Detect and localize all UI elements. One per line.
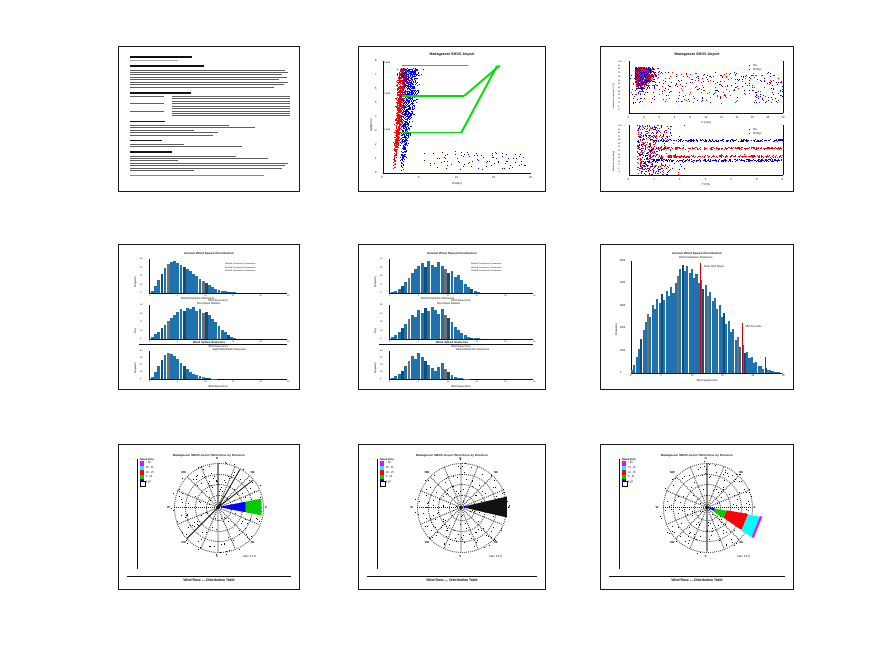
scatter-point — [667, 166, 668, 167]
scatter-point — [640, 126, 641, 127]
scatter-point — [742, 79, 743, 80]
scatter-point-std — [445, 158, 446, 159]
scatter-point — [685, 95, 686, 96]
scatter-point — [719, 149, 720, 150]
scatter-point-std — [415, 70, 416, 71]
scatter-point — [654, 175, 655, 176]
scatter-point — [636, 74, 637, 75]
scatter-point — [643, 68, 644, 69]
scatter-point — [668, 156, 669, 157]
doc-table-row — [130, 101, 290, 102]
scatter-point-std — [412, 69, 413, 70]
scatter-point — [682, 148, 683, 149]
scatter-point — [681, 88, 682, 89]
y-axis-label: Wind Direction (deg) — [613, 151, 615, 171]
scatter-point — [638, 142, 639, 143]
doc-text-line — [130, 156, 236, 157]
scatter-point-std — [418, 73, 419, 74]
scatter-point — [746, 161, 747, 162]
scatter-point — [688, 141, 689, 142]
scatter-point — [636, 83, 637, 84]
scatter-point — [647, 125, 648, 126]
scatter-point-std — [406, 87, 407, 88]
scatter-point — [643, 152, 644, 153]
scatter-point — [632, 89, 633, 90]
scatter-point — [677, 160, 678, 161]
scatter-point — [731, 139, 732, 140]
scatter-point — [715, 92, 716, 93]
x-axis-label: V (m/s) — [629, 120, 783, 124]
scatter-point — [641, 82, 642, 83]
scatter-point-std — [409, 128, 410, 129]
scatter-point — [755, 100, 756, 101]
scatter-point — [659, 89, 660, 90]
scatter-point — [634, 96, 635, 97]
legend-label: Mean — [401, 68, 407, 71]
scatter-point — [778, 78, 779, 79]
scatter-point — [636, 77, 637, 78]
scatter-point — [782, 96, 783, 97]
scatter-point — [762, 99, 763, 100]
scatter-point-std — [414, 76, 415, 77]
doc-table-row — [130, 115, 290, 116]
scatter-point — [770, 157, 771, 158]
scatter-point — [686, 74, 687, 75]
scatter-point — [713, 94, 714, 95]
scatter-point — [726, 73, 727, 74]
scatter-point-std — [415, 90, 416, 91]
scatter-point-std — [417, 85, 418, 86]
doc-text-line — [130, 135, 213, 136]
scatter-point — [708, 159, 709, 160]
scatter-point-mean — [397, 95, 398, 96]
scatter-point-mean — [400, 106, 401, 107]
scatter-point-std — [410, 126, 411, 127]
scatter-point-std — [434, 163, 435, 164]
scatter-point — [745, 83, 746, 84]
scatter-point — [725, 95, 726, 96]
scatter-point — [752, 90, 753, 91]
scatter-point — [704, 90, 705, 91]
scatter-point — [716, 156, 717, 157]
scatter-point-std — [406, 135, 407, 136]
scatter-point — [760, 91, 761, 92]
scatter-point — [658, 125, 659, 126]
scatter-point — [702, 85, 703, 86]
scatter-point — [654, 96, 655, 97]
scatter-point — [698, 89, 699, 90]
scatter-point — [737, 97, 738, 98]
scatter-point-std — [410, 135, 411, 136]
scatter-point — [756, 102, 757, 103]
scatter-point — [669, 161, 670, 162]
scatter-point — [757, 79, 758, 80]
scatter-point — [671, 160, 672, 161]
scatter-point-mean — [397, 116, 398, 117]
doc-row-value — [172, 108, 290, 109]
legend-marker — [749, 65, 750, 66]
scatter-point-mean — [397, 120, 398, 121]
legend-marker — [749, 69, 750, 70]
scatter-point — [722, 148, 723, 149]
scatter-point — [670, 76, 671, 77]
scatter-point — [686, 100, 687, 101]
scatter-point-std — [442, 152, 443, 153]
scatter-point — [646, 138, 647, 139]
scatter-point — [718, 91, 719, 92]
scatter-point — [735, 83, 736, 84]
scatter-point — [714, 160, 715, 161]
scatter-point-std — [412, 121, 413, 122]
scatter-point — [681, 74, 682, 75]
scatter-point — [715, 140, 716, 141]
scatter-point — [710, 159, 711, 160]
scatter-point — [718, 140, 719, 141]
scatter-point — [692, 161, 693, 162]
scatter-point-std — [478, 168, 479, 169]
scatter-point — [640, 88, 641, 89]
scatter-point — [629, 81, 630, 82]
scatter-point — [771, 88, 772, 89]
scatter-point — [768, 100, 769, 101]
scatter-point — [728, 79, 729, 80]
scatter-point-std — [411, 81, 412, 82]
scatter-point — [782, 139, 783, 140]
scatter-point — [663, 134, 664, 135]
scatter-point — [731, 78, 732, 79]
scatter-point-std — [404, 87, 405, 88]
scatter-point-std — [464, 164, 465, 165]
scatter-point-std — [405, 147, 406, 148]
scatter-point-mean — [400, 128, 401, 129]
scatter-point-std — [403, 155, 404, 156]
scatter-point — [735, 75, 736, 76]
scatter-point — [658, 171, 659, 172]
scatter-point — [680, 160, 681, 161]
scatter-point — [726, 77, 727, 78]
scatter-point — [665, 101, 666, 102]
scatter-point — [723, 92, 724, 93]
scatter-point-std — [406, 116, 407, 117]
scatter-point-std — [402, 116, 403, 117]
scatter-point-std — [404, 159, 405, 160]
scatter-point — [651, 157, 652, 158]
scatter-point — [760, 96, 761, 97]
scatter-point — [760, 94, 761, 95]
scatter-point — [665, 78, 666, 79]
scatter-point-std — [409, 102, 410, 103]
scatter-point — [698, 80, 699, 81]
x-tick-label: 14 — [735, 116, 738, 119]
y-tick-label: 20 — [618, 161, 620, 163]
scatter-point-mean — [397, 121, 398, 122]
scatter-point — [697, 76, 698, 77]
scatter-point-mean — [394, 143, 395, 144]
scatter-point — [689, 77, 690, 78]
scatter-point-std — [402, 159, 403, 160]
scatter-point — [638, 163, 639, 164]
scatter-point — [648, 171, 649, 172]
scatter-point — [670, 86, 671, 87]
scatter-point — [724, 81, 725, 82]
y-axis — [383, 61, 384, 173]
scatter-point — [649, 85, 650, 86]
scatter-point — [689, 160, 690, 161]
scatter-point — [688, 99, 689, 100]
scatter-point-std — [408, 91, 409, 92]
scatter-point — [663, 99, 664, 100]
scatter-point — [655, 162, 656, 163]
scatter-point — [743, 77, 744, 78]
scatter-point — [640, 68, 641, 69]
scatter-point — [729, 91, 730, 92]
doc-row-label — [130, 103, 164, 104]
scatter-point — [666, 95, 667, 96]
scatter-point-mean — [394, 161, 395, 162]
scatter-point — [632, 94, 633, 95]
scatter-point-std — [461, 155, 462, 156]
scatter-point — [780, 147, 781, 148]
y-tick-label: 92 — [618, 129, 620, 131]
scatter-point — [640, 79, 641, 80]
scatter-point-std — [524, 165, 525, 166]
scatter-point — [696, 73, 697, 74]
doc-row-value — [172, 113, 290, 114]
scatter-point-std — [463, 166, 464, 167]
scatter-point — [736, 87, 737, 88]
scatter-point — [647, 152, 648, 153]
scatter-point-mean — [399, 87, 400, 88]
scatter-point — [720, 75, 721, 76]
scatter-point — [652, 98, 653, 99]
scatter-point-std — [504, 168, 505, 169]
scatter-point — [682, 161, 683, 162]
scatter-point-std — [406, 78, 407, 79]
scatter-point — [646, 169, 647, 170]
scatter-point — [737, 160, 738, 161]
scatter-point — [701, 82, 702, 83]
scatter-point — [658, 74, 659, 75]
scatter-point — [654, 88, 655, 89]
scatter-point — [777, 84, 778, 85]
scatter-point — [637, 159, 638, 160]
scatter-point-std — [476, 153, 477, 154]
scatter-point-std — [402, 152, 403, 153]
scatter-point-std — [414, 108, 415, 109]
scatter-point — [738, 80, 739, 81]
scatter-point — [776, 148, 777, 149]
scatter-point — [719, 84, 720, 85]
scatter-point — [775, 98, 776, 99]
scatter-point — [753, 159, 754, 160]
scatter-point — [651, 74, 652, 75]
scatter-point-std — [509, 168, 510, 169]
scatter-point-std — [455, 154, 456, 155]
scatter-point — [640, 71, 641, 72]
scatter-point — [766, 101, 767, 102]
scatter-point — [686, 83, 687, 84]
legend-marker — [749, 133, 750, 134]
scatter-point — [756, 97, 757, 98]
scatter-point — [660, 157, 661, 158]
scatter-point — [648, 80, 649, 81]
scatter-point-std — [408, 101, 409, 102]
scatter-point — [671, 135, 672, 136]
scatter-point — [661, 150, 662, 151]
scatter-point — [736, 101, 737, 102]
scatter-point — [708, 81, 709, 82]
scatter-point — [645, 92, 646, 93]
scatter-point — [749, 93, 750, 94]
scatter-point — [638, 148, 639, 149]
scatter-point-std — [493, 157, 494, 158]
x-tick-label: 6 — [782, 178, 783, 181]
scatter-point — [709, 92, 710, 93]
doc-text-line — [130, 87, 274, 88]
scatter-point — [718, 140, 719, 141]
scatter-point-std — [416, 74, 417, 75]
threshold-label: Level — [385, 128, 391, 131]
figure-panel-p3: Madagascar SMOS Airport02468101214161820… — [600, 46, 794, 192]
scatter-point — [659, 169, 660, 170]
scatter-point — [696, 77, 697, 78]
scatter-point — [663, 172, 664, 173]
scatter-point-std — [401, 78, 402, 79]
scatter-point — [715, 83, 716, 84]
scatter-point-std — [413, 109, 414, 110]
scatter-point — [662, 171, 663, 172]
scatter-point — [759, 102, 760, 103]
scatter-point — [692, 148, 693, 149]
scatter-point — [648, 165, 649, 166]
scatter-point — [758, 96, 759, 97]
scatter-point-std — [421, 74, 422, 75]
scatter-point — [778, 82, 779, 83]
scatter-point — [764, 149, 765, 150]
scatter-point — [653, 76, 654, 77]
scatter-point — [674, 163, 675, 164]
scatter-point-std — [515, 154, 516, 155]
scatter-point-mean — [399, 140, 400, 141]
doc-text-line — [130, 160, 178, 161]
scatter-point — [771, 102, 772, 103]
scatter-point — [641, 137, 642, 138]
scatter-point — [647, 166, 648, 167]
scatter-point — [750, 78, 751, 79]
y-tick-label: 76 — [618, 136, 620, 138]
scatter-point-std — [404, 107, 405, 108]
scatter-point — [635, 94, 636, 95]
scatter-point-std — [416, 99, 417, 100]
scatter-point — [752, 87, 753, 88]
scatter-point — [640, 86, 641, 87]
doc-text-line — [130, 82, 288, 83]
y-tick-label: 44 — [618, 87, 620, 89]
scatter-point — [663, 136, 664, 137]
scatter-point — [715, 87, 716, 88]
scatter-point-std — [409, 119, 410, 120]
scatter-point-std — [464, 154, 465, 155]
doc-row-value — [172, 115, 290, 116]
scatter-point — [663, 161, 664, 162]
scatter-point — [682, 86, 683, 87]
doc-text-line — [130, 72, 288, 73]
scatter-point — [770, 139, 771, 140]
scatter-point — [721, 103, 722, 104]
legend-label: Std Dev — [401, 73, 410, 76]
scatter-point — [643, 87, 644, 88]
scatter-point — [651, 133, 652, 134]
scatter-point — [760, 140, 761, 141]
scatter-point-mean — [397, 144, 398, 145]
y-tick-label: 5 — [375, 101, 376, 104]
y-tick-label: 68 — [618, 76, 620, 78]
scatter-point — [672, 72, 673, 73]
scatter-point-std — [505, 163, 506, 164]
x-tick-label: 0 — [381, 176, 382, 179]
scatter-point — [725, 86, 726, 87]
scatter-point — [689, 101, 690, 102]
scatter-point-std — [410, 118, 411, 119]
scatter-point — [653, 170, 654, 171]
scatter-point — [751, 160, 752, 161]
scatter-point — [640, 98, 641, 99]
scatter-point-std — [414, 87, 415, 88]
scatter-point — [641, 168, 642, 169]
y-tick-label: -4 — [618, 171, 620, 173]
doc-row-value — [172, 96, 290, 97]
doc-table-row — [130, 98, 290, 99]
y-tick-label: 7 — [375, 73, 376, 76]
scatter-point-mean — [394, 157, 395, 158]
chart-title: Madagascar SMOS Airport — [601, 52, 793, 56]
legend-label: Std Dev — [753, 132, 762, 135]
scatter-point-mean — [394, 124, 395, 125]
scatter-point — [730, 161, 731, 162]
doc-table-row — [130, 108, 290, 109]
scatter-point — [768, 156, 769, 157]
scatter-point-std — [410, 115, 411, 116]
scatter-point-std — [406, 112, 407, 113]
scatter-point — [647, 71, 648, 72]
scatter-point-std — [413, 103, 414, 104]
scatter-point-mean — [399, 125, 400, 126]
scatter-point-std — [492, 155, 493, 156]
scatter-point — [650, 137, 651, 138]
scatter-point-std — [408, 127, 409, 128]
scatter-point — [685, 149, 686, 150]
scatter-point-std — [523, 157, 524, 158]
scatter-point-std — [492, 157, 493, 158]
scatter-point — [749, 161, 750, 162]
scatter-point-mean — [398, 105, 399, 106]
scatter-point — [645, 68, 646, 69]
scatter-point-std — [471, 166, 472, 167]
scatter-point — [644, 77, 645, 78]
scatter-point-std — [404, 137, 405, 138]
scatter-point — [737, 86, 738, 87]
y-tick-label: 2 — [375, 143, 376, 146]
scatter-point — [640, 129, 641, 130]
scatter-point — [647, 147, 648, 148]
scatter-point — [681, 166, 682, 167]
y-tick-label: 20 — [618, 98, 620, 100]
scatter-point — [768, 161, 769, 162]
scatter-point-std — [418, 90, 419, 91]
scatter-point — [647, 87, 648, 88]
scatter-point — [645, 142, 646, 143]
scatter-point — [679, 92, 680, 93]
